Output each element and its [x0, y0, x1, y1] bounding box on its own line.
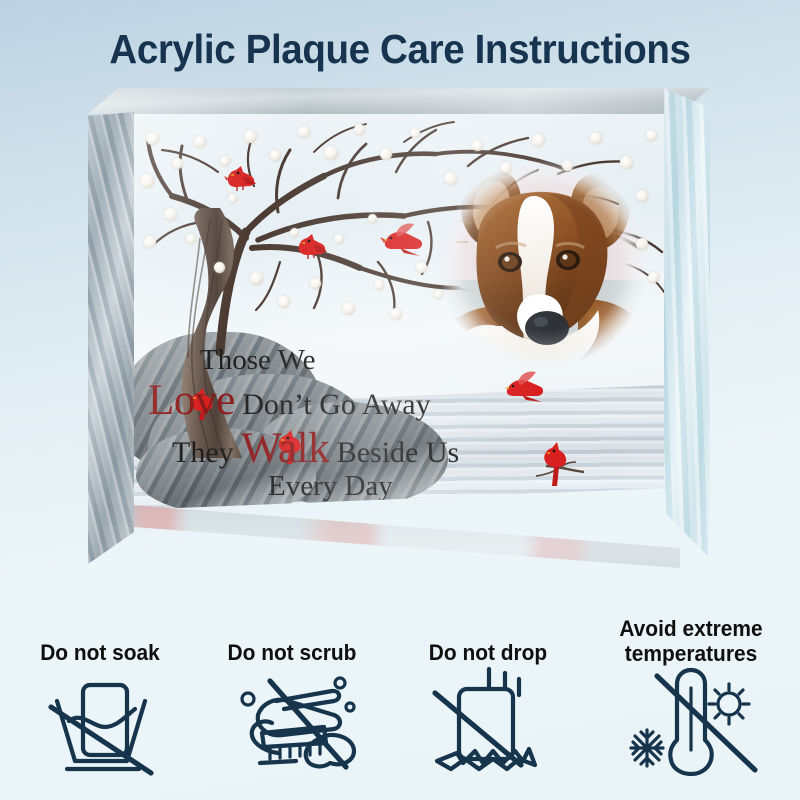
care-label-no-soak: Do not soak	[7, 640, 193, 665]
no-scrub-icon	[222, 665, 362, 777]
quote-line-2-rest: Don’t Go Away	[242, 388, 430, 421]
care-item-no-soak: Do not soak	[2, 640, 198, 777]
plaque-base-reflection	[88, 502, 710, 572]
quote-line-3: They Walk Beside Us	[172, 424, 459, 473]
acrylic-plaque: Those We Love Don’t Go Away They Walk Be…	[88, 88, 710, 568]
care-label-no-scrub: Do not scrub	[197, 640, 387, 665]
plaque-artwork: Those We Love Don’t Go Away They Walk Be…	[128, 112, 668, 510]
care-label-no-extreme-temperature: Avoid extreme temperatures	[587, 616, 794, 666]
quote-line-3-pre: They	[172, 436, 234, 469]
quote-line-4: Every Day	[268, 470, 393, 503]
care-item-no-drop: Do not drop	[392, 640, 584, 777]
quote-accent-love: Love	[148, 377, 235, 424]
care-label-no-drop: Do not drop	[397, 640, 579, 665]
no-extreme-temperature-icon	[621, 666, 761, 776]
quote-line-3-rest: Beside Us	[337, 436, 460, 469]
plaque-quote: Those We Love Don’t Go Away They Walk Be…	[128, 112, 668, 510]
page-title-text: Acrylic Plaque Care Instructions	[24, 26, 776, 73]
care-instructions-row: Do not soak Do not scrub Do not drop	[0, 616, 800, 800]
care-item-no-scrub: Do not scrub	[192, 640, 392, 777]
care-item-no-extreme-temperature: Avoid extreme temperatures	[582, 616, 800, 776]
plaque-left-edge-texture	[88, 112, 134, 564]
quote-line-2: Love Don’t Go Away	[148, 376, 431, 425]
quote-accent-walk: Walk	[241, 425, 329, 472]
page-title: Acrylic Plaque Care Instructions	[0, 26, 800, 73]
no-soak-icon	[35, 665, 165, 777]
quote-line-1: Those We	[200, 344, 316, 377]
plaque-right-edge-texture	[664, 88, 710, 558]
no-drop-icon	[423, 665, 553, 777]
